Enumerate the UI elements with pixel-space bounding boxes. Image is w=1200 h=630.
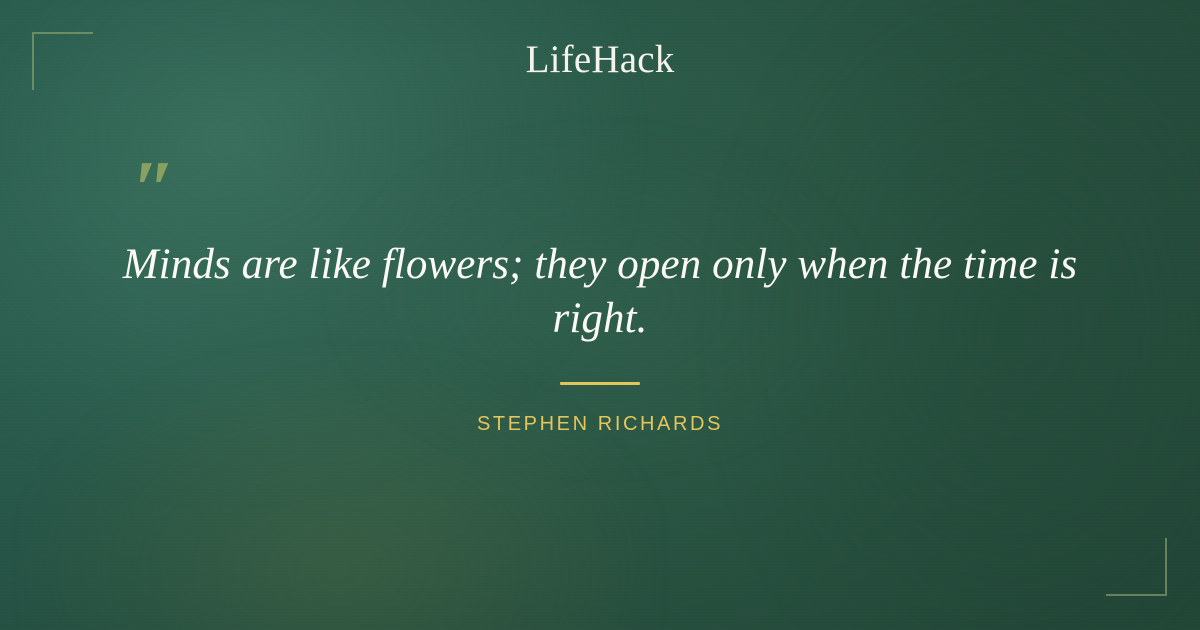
quote-text: Minds are like flowers; they open only w… xyxy=(120,238,1080,346)
quotation-mark-icon: ″ xyxy=(132,150,176,230)
gold-divider xyxy=(560,382,640,385)
quote-card: LifeHack ″ Minds are like flowers; they … xyxy=(0,0,1200,630)
corner-bracket-bottom-right-icon xyxy=(1106,538,1167,596)
quote-author: STEPHEN RICHARDS xyxy=(0,413,1200,436)
brand-logo: LifeHack xyxy=(0,40,1200,79)
